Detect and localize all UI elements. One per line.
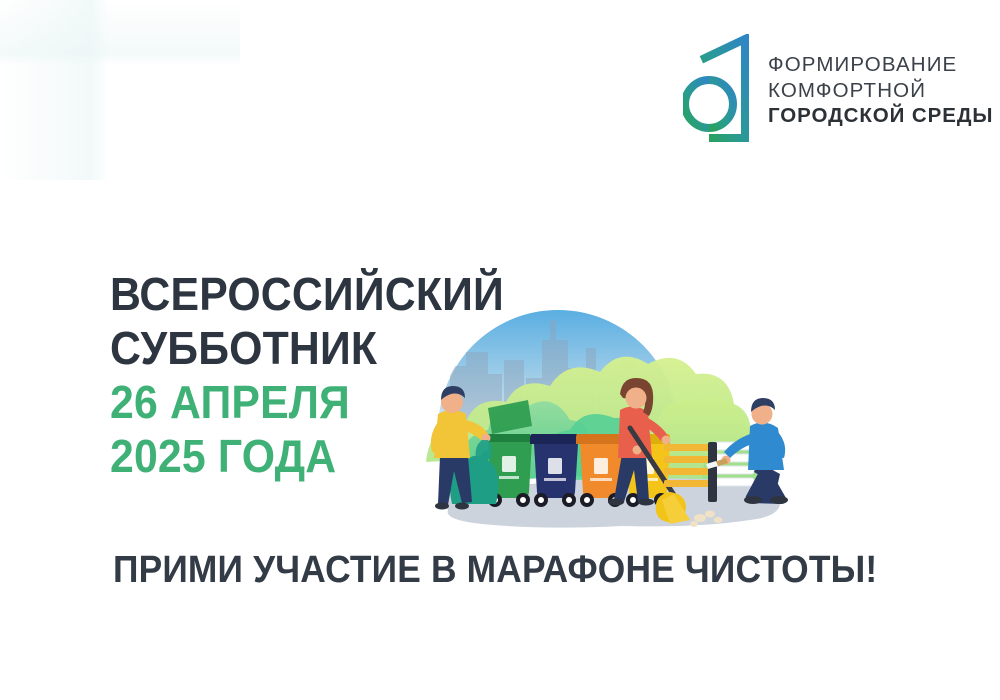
house-leaf-logo-icon	[683, 34, 755, 162]
page-title: ВСЕРОССИЙСКИЙ СУББОТНИК 26 АПРЕЛЯ 2025 Г…	[110, 267, 534, 483]
logo-line-2: КОМФОРТНОЙ	[768, 78, 993, 104]
headline-line-3: 26 АПРЕЛЯ	[110, 375, 504, 429]
headline-line-2: СУББОТНИК	[110, 321, 504, 375]
headline-line-4: 2025 ГОДА	[110, 429, 504, 483]
call-to-action-text: ПРИМИ УЧАСТИЕ В МАРАФОНЕ ЧИСТОТЫ!	[113, 548, 877, 592]
program-logo: ФОРМИРОВАНИЕ КОМФОРТНОЙ ГОРОДСКОЙ СРЕДЫ	[683, 34, 993, 162]
logo-line-1: ФОРМИРОВАНИЕ	[768, 52, 993, 78]
poster-canvas: ФОРМИРОВАНИЕ КОМФОРТНОЙ ГОРОДСКОЙ СРЕДЫ …	[0, 0, 1000, 700]
logo-line-3: ГОРОДСКОЙ СРЕДЫ	[768, 103, 993, 129]
bin-navy	[530, 434, 578, 507]
headline-line-1: ВСЕРОССИЙСКИЙ	[110, 267, 504, 321]
scan-artifact	[0, 0, 240, 180]
logo-wordmark: ФОРМИРОВАНИЕ КОМФОРТНОЙ ГОРОДСКОЙ СРЕДЫ	[768, 34, 993, 129]
